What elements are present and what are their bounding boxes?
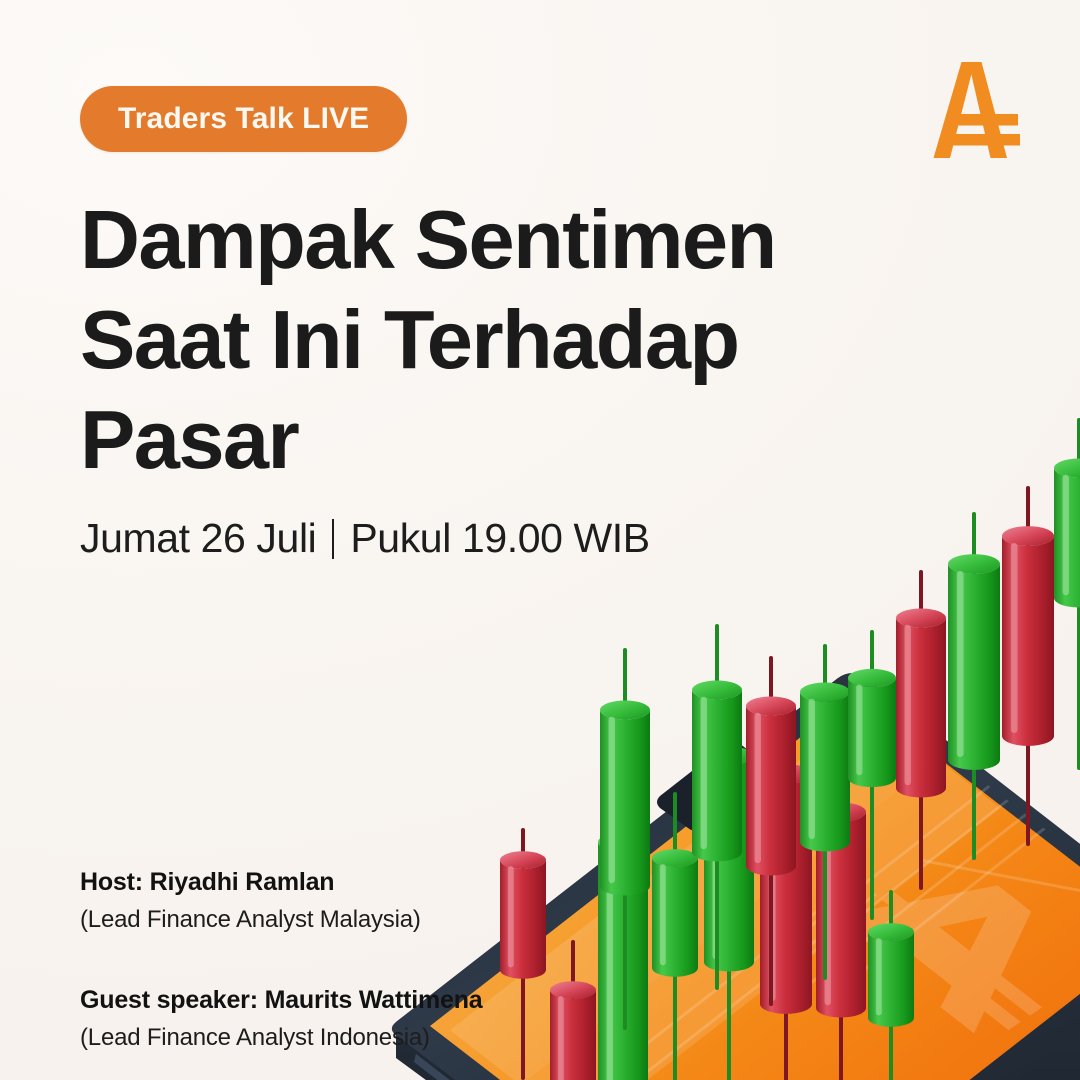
guest-name: Guest speaker: Maurits Wattimena xyxy=(80,984,600,1017)
host-block: Host: Riyadhi Ramlan (Lead Finance Analy… xyxy=(80,866,600,936)
event-time: Pukul 19.00 WIB xyxy=(350,515,649,562)
host-role: (Lead Finance Analyst Malaysia) xyxy=(80,903,600,936)
candle-cap xyxy=(1054,459,1080,478)
ascendex-a-logo-icon xyxy=(924,58,1028,164)
event-date: Jumat 26 Juli xyxy=(80,515,316,562)
guest-role: (Lead Finance Analyst Indonesia) xyxy=(80,1021,600,1054)
poster-canvas: Traders Talk LIVE Dampak Sentimen Saat I… xyxy=(0,0,1080,1080)
host-name: Host: Riyadhi Ramlan xyxy=(80,866,600,899)
datetime-separator xyxy=(332,519,334,559)
headline-line-1: Dampak Sentimen xyxy=(80,190,840,290)
candle-cap xyxy=(1002,526,1054,546)
page-title: Dampak Sentimen Saat Ini Terhadap Pasar xyxy=(80,190,840,490)
live-badge[interactable]: Traders Talk LIVE xyxy=(80,86,407,152)
headline-line-2: Saat Ini Terhadap xyxy=(80,290,840,390)
speaker-list: Host: Riyadhi Ramlan (Lead Finance Analy… xyxy=(80,866,600,1054)
live-badge-label: Traders Talk LIVE xyxy=(118,102,369,136)
guest-block: Guest speaker: Maurits Wattimena (Lead F… xyxy=(80,984,600,1054)
brand-logo[interactable] xyxy=(924,58,1028,164)
headline-line-3: Pasar xyxy=(80,390,840,490)
event-datetime: Jumat 26 Juli Pukul 19.00 WIB xyxy=(80,515,650,562)
